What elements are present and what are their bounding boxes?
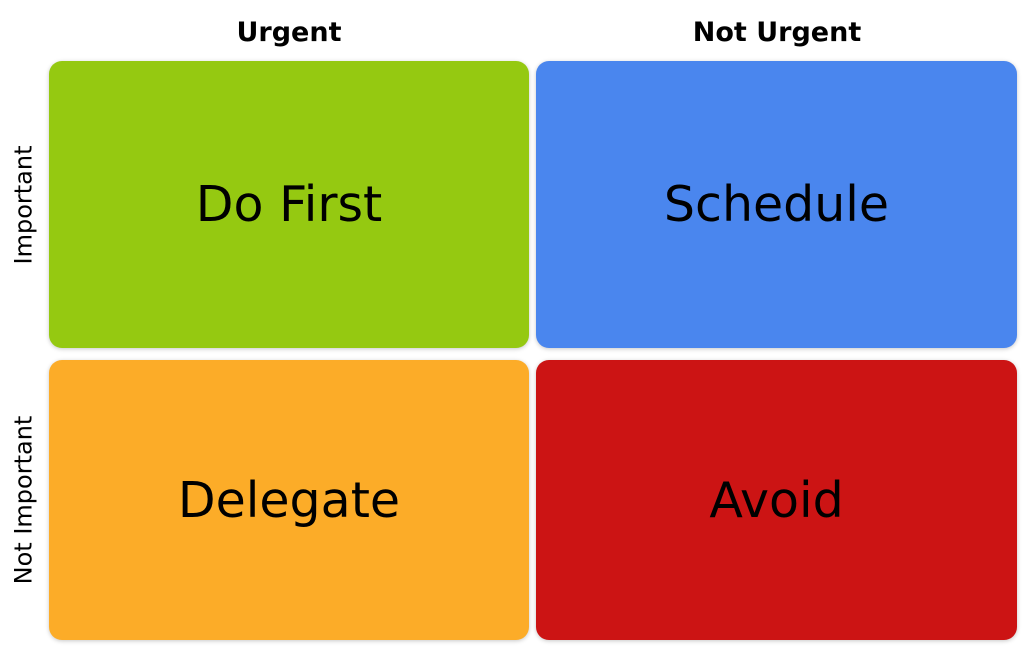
row-header-important: Important — [0, 61, 46, 348]
quadrant-do-first-label: Do First — [196, 180, 382, 229]
row-header-not-important-label: Not Important — [11, 416, 35, 585]
column-header-not-urgent: Not Urgent — [536, 12, 1018, 54]
quadrant-delegate-label: Delegate — [178, 476, 400, 525]
quadrant-schedule-label: Schedule — [664, 180, 889, 229]
row-header-important-label: Important — [11, 145, 35, 264]
column-header-urgent: Urgent — [49, 12, 529, 54]
quadrant-schedule[interactable]: Schedule — [536, 61, 1017, 348]
quadrant-avoid[interactable]: Avoid — [536, 360, 1017, 640]
quadrant-avoid-label: Avoid — [709, 476, 843, 525]
row-header-not-important: Not Important — [0, 360, 46, 640]
quadrant-delegate[interactable]: Delegate — [49, 360, 529, 640]
quadrant-do-first[interactable]: Do First — [49, 61, 529, 348]
eisenhower-matrix: Urgent Not Urgent Important Not Importan… — [0, 0, 1024, 647]
